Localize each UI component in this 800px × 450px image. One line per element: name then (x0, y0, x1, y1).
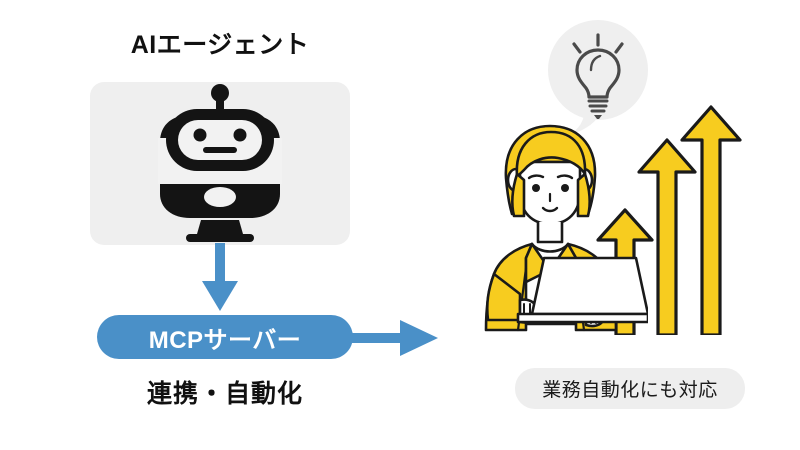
diagram-canvas: AIエージェント MCPサーバー (0, 0, 800, 450)
robot-monitor-icon (90, 82, 350, 245)
arrow-down-icon (196, 243, 244, 313)
mcp-server-button[interactable]: MCPサーバー (97, 315, 353, 359)
automation-support-label: 業務自動化にも対応 (542, 375, 718, 402)
mcp-server-label: MCPサーバー (149, 320, 302, 355)
integration-caption: 連携・自動化 (97, 374, 353, 410)
page-title: AIエージェント (90, 30, 350, 60)
automation-support-badge: 業務自動化にも対応 (515, 368, 745, 409)
arrow-right-icon (348, 317, 440, 359)
business-woman-with-laptop-illustration (458, 118, 648, 340)
